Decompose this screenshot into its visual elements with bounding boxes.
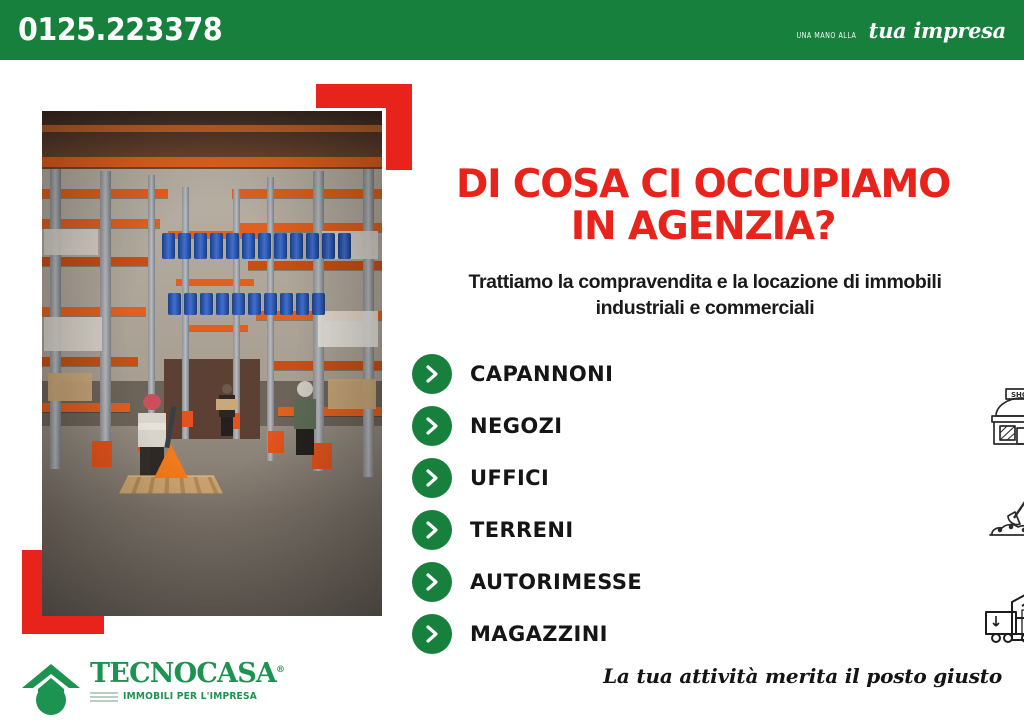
footer-script-text: La tua attività merita il posto giusto [603, 664, 1002, 688]
page-title-line-1: DI COSA CI OCCUPIAMO [456, 162, 950, 207]
tecnocasa-house-icon [20, 662, 82, 723]
list-item-label: MAGAZZINI [470, 622, 608, 646]
shovel-land-icon [984, 478, 1024, 549]
list-item-label: CAPANNONI [470, 362, 613, 386]
page-title: DI COSA CI OCCUPIAMO IN AGENZIA? [412, 164, 1012, 248]
main-content: DI COSA CI OCCUPIAMO IN AGENZIA? Trattia… [412, 84, 1012, 644]
shop-icon: SHOP [982, 386, 1024, 453]
list-item-autorimesse[interactable]: AUTORIMESSE [412, 556, 752, 608]
phone-number[interactable]: 0125.223378 [18, 12, 222, 48]
list-item-capannoni[interactable]: CAPANNONI [412, 348, 752, 400]
page-subtitle: Trattiamo la compravendita e la locazion… [412, 270, 1012, 321]
photo-vignette [42, 111, 382, 616]
tecnocasa-wordmark: TECNOCASA® IMMOBILI PER L'IMPRESA [90, 660, 284, 702]
list-item-negozi[interactable]: NEGOZI [412, 400, 752, 452]
tecnocasa-word-text: TECNOCASA [90, 658, 276, 689]
chevron-right-icon [412, 562, 452, 602]
page-subtitle-line-2: industriali e commerciali [596, 297, 815, 319]
page-subtitle-line-1: Trattiamo la compravendita e la locazion… [469, 271, 942, 293]
chevron-right-icon [412, 354, 452, 394]
warehouse-truck-icon [982, 584, 1024, 653]
chevron-right-icon [412, 458, 452, 498]
header-tagline-small: UNA MANO ALLA [796, 31, 856, 40]
tecnocasa-logo[interactable]: TECNOCASA® IMMOBILI PER L'IMPRESA [20, 660, 284, 723]
shop-sign-text: SHOP [1011, 391, 1024, 399]
photo-frame [22, 84, 412, 634]
list-item-label: UFFICI [470, 466, 549, 490]
registered-mark: ® [276, 665, 284, 675]
list-item-label: TERRENI [470, 518, 574, 542]
tecnocasa-word: TECNOCASA® [90, 660, 284, 687]
header-tagline: UNA MANO ALLA tua impresa [789, 18, 1006, 43]
warehouse-photo [42, 111, 382, 616]
list-item-uffici[interactable]: UFFICI [412, 452, 752, 504]
page-title-line-2: IN AGENZIA? [412, 206, 994, 248]
chevron-right-icon [412, 510, 452, 550]
tecnocasa-mini-mark-icon [90, 692, 118, 702]
list-item-label: AUTORIMESSE [470, 570, 642, 594]
list-item-magazzini[interactable]: MAGAZZINI [412, 608, 752, 660]
list-item-terreni[interactable]: TERRENI [412, 504, 752, 556]
chevron-right-icon [412, 614, 452, 654]
header-tagline-script: tua impresa [869, 18, 1006, 43]
tecnocasa-tagline-row: IMMOBILI PER L'IMPRESA [90, 691, 284, 702]
header-bar: 0125.223378 UNA MANO ALLA tua impresa [0, 0, 1024, 60]
tecnocasa-tagline: IMMOBILI PER L'IMPRESA [123, 691, 257, 702]
chevron-right-icon [412, 406, 452, 446]
list-item-label: NEGOZI [470, 414, 562, 438]
services-list: CAPANNONI NEGOZI UFFICI TERRENI AUTORIME [412, 348, 752, 660]
